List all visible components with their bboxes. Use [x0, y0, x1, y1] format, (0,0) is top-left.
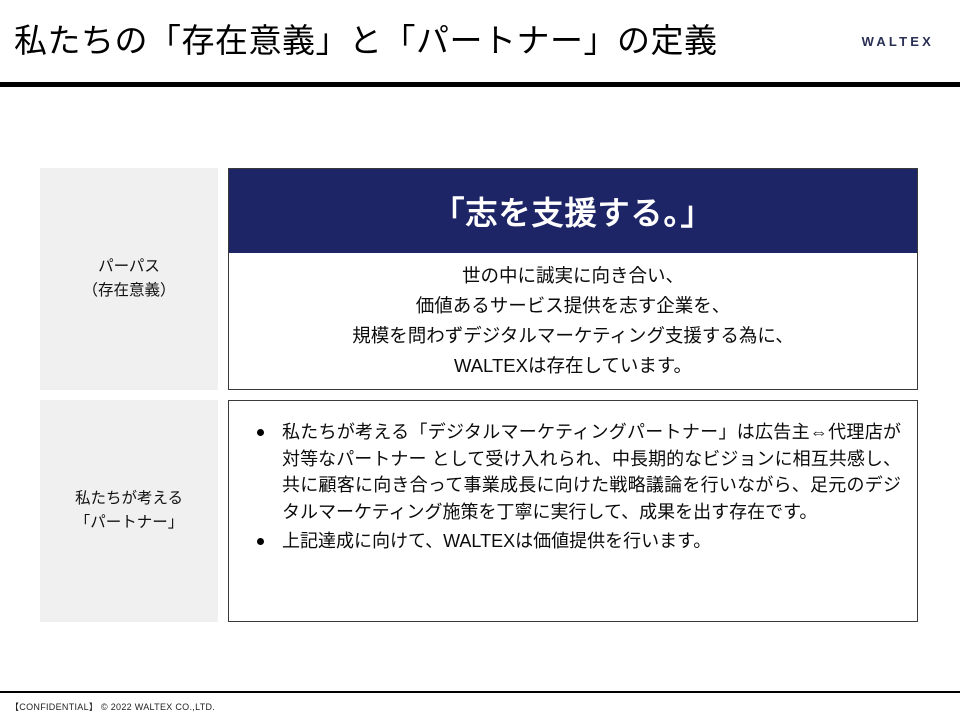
waltex-logo: WALTEX: [862, 34, 934, 49]
purpose-banner-text: 「志を支援する。」: [432, 188, 713, 234]
body-cell-partner: 私たちが考える「デジタルマーケティングパートナー」は広告主⇔代理店が対等なパート…: [228, 400, 918, 622]
partner-body: 私たちが考える「デジタルマーケティングパートナー」は広告主⇔代理店が対等なパート…: [229, 401, 917, 621]
row-partner: 私たちが考える 「パートナー」 私たちが考える「デジタルマーケティングパートナー…: [40, 400, 918, 622]
label-cell-partner: 私たちが考える 「パートナー」: [40, 400, 218, 622]
purpose-banner: 「志を支援する。」: [229, 169, 917, 253]
footer-divider: [0, 691, 960, 693]
list-item-text: 上記達成に向けて、WALTEXは価値提供を行います。: [282, 531, 711, 551]
header-divider: [0, 82, 960, 87]
slide-header: 私たちの「存在意義」と「パートナー」の定義 WALTEX: [0, 0, 960, 82]
purpose-body: 世の中に誠実に向き合い、 価値あるサービス提供を志す企業を、 規模を問わずデジタ…: [229, 253, 917, 389]
row-purpose: パーパス （存在意義） 「志を支援する。」 世の中に誠実に向き合い、 価値あるサ…: [40, 168, 918, 390]
content-area: パーパス （存在意義） 「志を支援する。」 世の中に誠実に向き合い、 価値あるサ…: [0, 100, 960, 660]
list-item-text: 私たちが考える「デジタルマーケティングパートナー」は広告主⇔代理店が対等なパート…: [282, 422, 901, 522]
list-item: 私たちが考える「デジタルマーケティングパートナー」は広告主⇔代理店が対等なパート…: [243, 419, 901, 526]
partner-bullet-list: 私たちが考える「デジタルマーケティングパートナー」は広告主⇔代理店が対等なパート…: [243, 419, 901, 556]
label-cell-purpose: パーパス （存在意義）: [40, 168, 218, 390]
label-purpose-text: パーパス （存在意義）: [82, 255, 175, 303]
bullet-dot-icon: [257, 429, 264, 436]
list-item: 上記達成に向けて、WALTEXは価値提供を行います。: [243, 528, 901, 555]
page-title: 私たちの「存在意義」と「パートナー」の定義: [14, 23, 718, 59]
confidential-notice: 【CONFIDENTIAL】 © 2022 WALTEX CO.,LTD.: [10, 700, 215, 713]
label-partner-text: 私たちが考える 「パートナー」: [75, 487, 184, 535]
purpose-body-text: 世の中に誠実に向き合い、 価値あるサービス提供を志す企業を、 規模を問わずデジタ…: [352, 261, 794, 381]
body-cell-purpose: 「志を支援する。」 世の中に誠実に向き合い、 価値あるサービス提供を志す企業を、…: [228, 168, 918, 390]
bullet-dot-icon: [257, 538, 264, 545]
